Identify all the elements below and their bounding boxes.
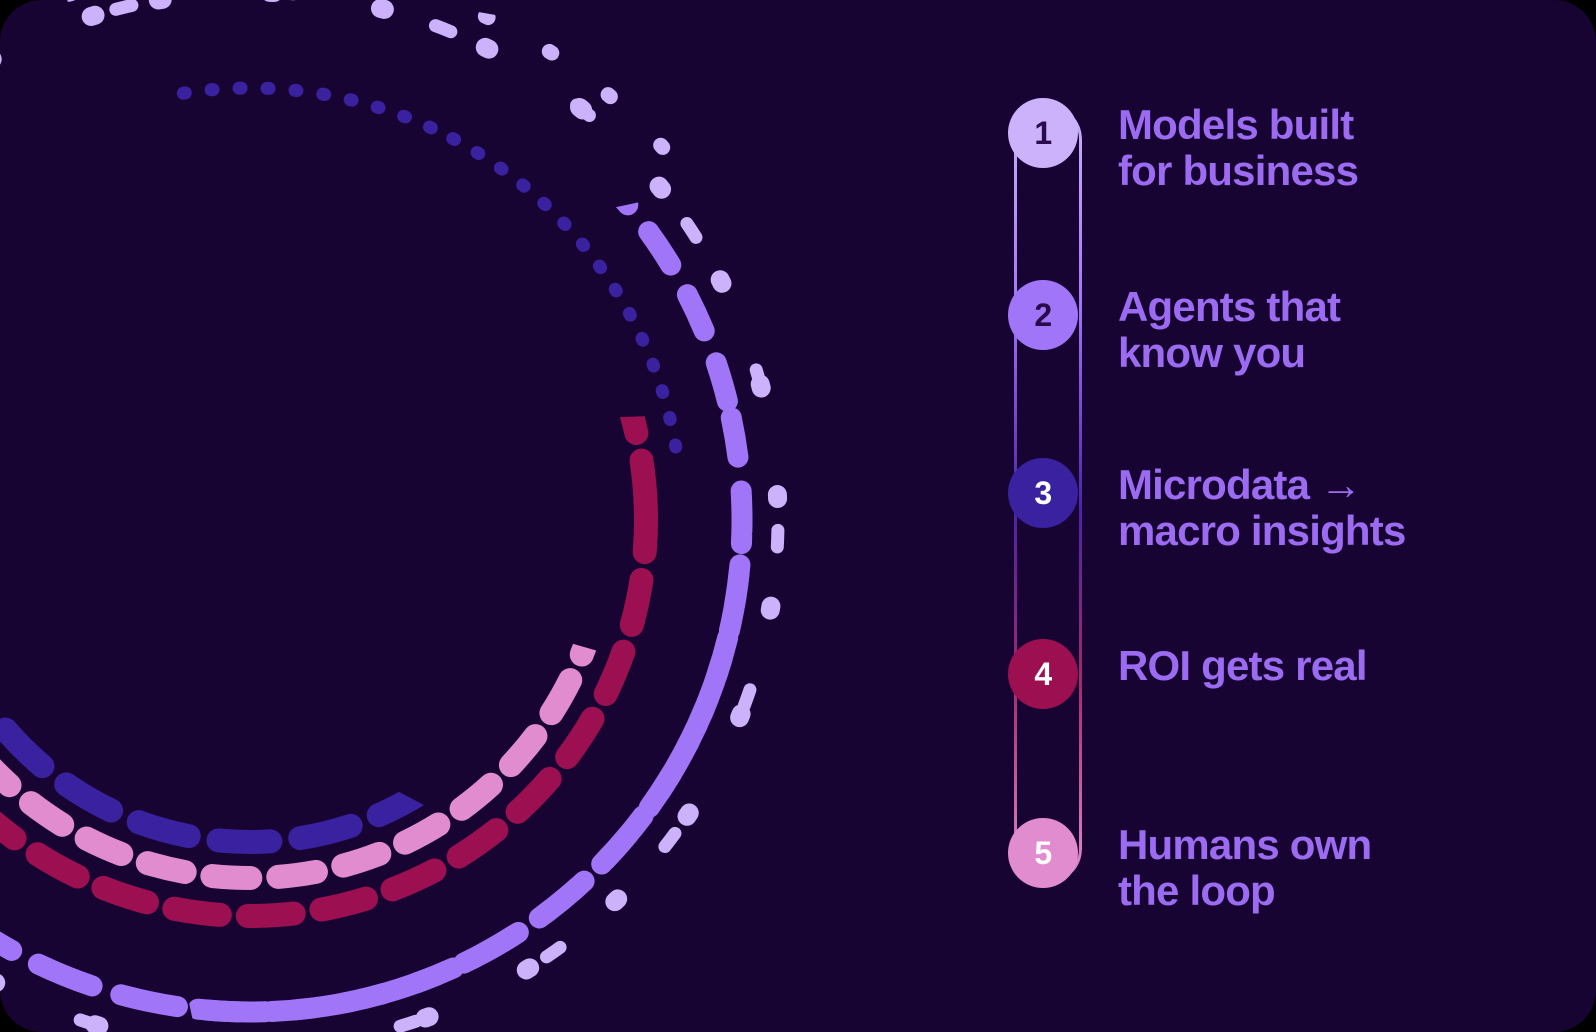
step-label: Models built for business xyxy=(1118,98,1358,194)
step-number-badge[interactable]: 1 xyxy=(1008,98,1078,168)
step-row[interactable]: 1Models built for business xyxy=(1008,98,1548,194)
ring-arc-indigo-dotted xyxy=(0,0,790,1032)
step-row[interactable]: 4ROI gets real xyxy=(1008,639,1548,709)
step-label: Microdata → macro insights xyxy=(1118,458,1406,554)
step-number-badge[interactable]: 5 xyxy=(1008,818,1078,888)
ring-arc-crimson xyxy=(0,110,660,929)
step-label: ROI gets real xyxy=(1118,639,1367,689)
step-number-badge[interactable]: 3 xyxy=(1008,458,1078,528)
concentric-dashed-ring-graphic xyxy=(0,0,790,1032)
slide-canvas: 1Models built for business2Agents that k… xyxy=(0,0,1596,1032)
ring-arc-lavender-outer-b xyxy=(0,0,790,1032)
step-label: Humans own the loop xyxy=(1118,818,1371,914)
step-number-badge[interactable]: 4 xyxy=(1008,639,1078,709)
ring-arc-indigo-dash-top xyxy=(0,0,790,1032)
ring-arcs xyxy=(0,0,790,1032)
ring-arc-lavender-sparse xyxy=(0,0,790,1032)
step-row[interactable]: 5Humans own the loop xyxy=(1008,818,1548,914)
ring-arc-indigo-bottom xyxy=(0,85,685,956)
step-row[interactable]: 2Agents that know you xyxy=(1008,280,1548,376)
ring-arc-purple-main xyxy=(0,0,790,1032)
step-number-badge[interactable]: 2 xyxy=(1008,280,1078,350)
step-row[interactable]: 3Microdata → macro insights xyxy=(1008,458,1548,554)
ring-arc-purple-main-2 xyxy=(0,0,790,1032)
ring-arc-pink xyxy=(0,77,693,963)
ring-arc-lavender-outer xyxy=(0,0,790,1032)
step-label: Agents that know you xyxy=(1118,280,1340,376)
numbered-steps-list: 1Models built for business2Agents that k… xyxy=(1008,98,1548,898)
